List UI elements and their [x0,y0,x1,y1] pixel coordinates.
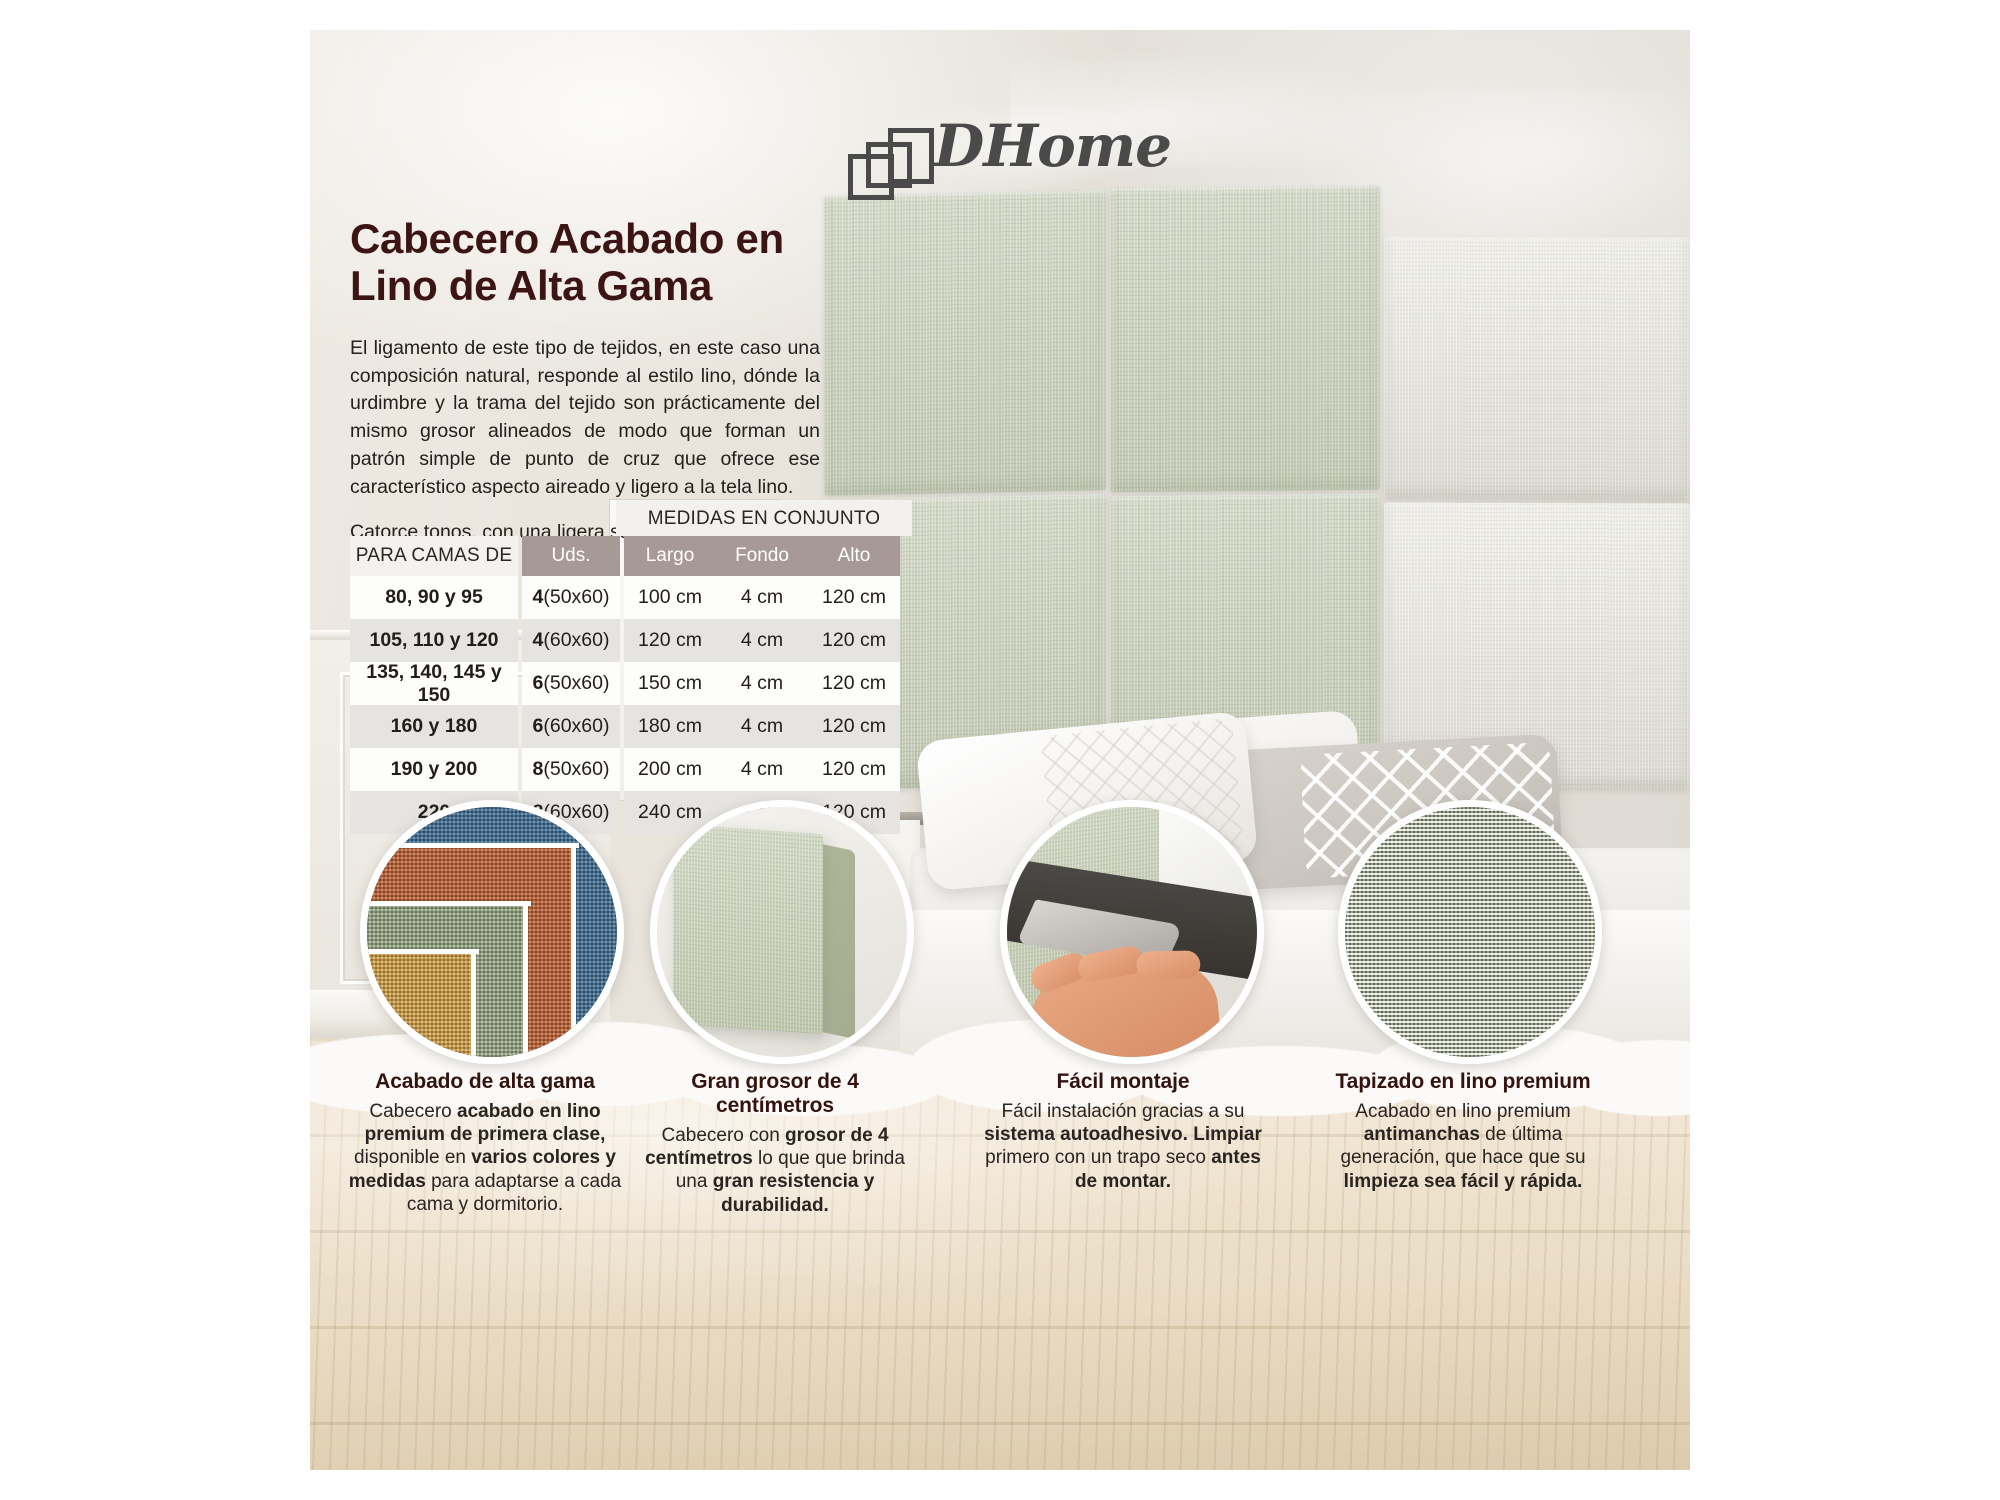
feature-text: Cabecero acabado en lino premium de prim… [340,1100,630,1216]
uds-count: 4 [533,586,544,609]
table-row: 105, 110 y 1204 (60x60)120 cm4 cm120 cm [350,619,912,662]
feature-text: Fácil instalación gracias a su sistema a… [978,1100,1268,1193]
cell-alto: 120 cm [808,576,900,619]
linen-weave-macro-photo [1338,800,1602,1064]
feature-block: Fácil montaje Fácil instalación gracias … [978,1070,1268,1193]
cell-camas: 190 y 200 [350,748,518,791]
table-supercolumn-label: MEDIDAS EN CONJUNTO [616,500,912,536]
product-infographic: DHome Cabecero Acabado en Lino de Alta G… [310,30,1690,1470]
feature-block: Tapizado en lino premium Acabado en lino… [1318,1070,1608,1193]
cell-fondo: 4 cm [716,705,808,748]
size-table: MEDIDAS EN CONJUNTO PARA CAMAS DE Uds. L… [350,500,912,834]
swatch-gold [367,953,475,1057]
feature-text-plain: Cabecero [369,1101,457,1122]
table-body: 80, 90 y 954 (50x60)100 cm4 cm120 cm105,… [350,576,912,834]
uds-size: (60x60) [543,629,609,652]
feature-text-plain: para adaptarse a cada cama y dormitorio. [407,1171,621,1215]
cell-camas: 105, 110 y 120 [350,619,518,662]
cell-uds: 8 (50x60) [522,748,620,791]
cell-largo: 200 cm [624,748,716,791]
cell-alto: 120 cm [808,619,900,662]
feature-text-bold: Limpiar [1193,1124,1262,1145]
uds-count: 6 [533,715,544,738]
column-header-fondo: Fondo [716,536,808,576]
feature-block: Gran grosor de 4 centímetros Cabecero co… [630,1070,920,1217]
cell-fondo: 4 cm [716,619,808,662]
uds-size: (50x60) [543,586,609,609]
sage-linen-panel [673,824,823,1034]
feature-text-plain: Acabado en lino premium [1355,1101,1570,1122]
feature-text-plain: Fácil instalación gracias a su [1002,1101,1245,1122]
brand-name: DHome [934,112,1171,180]
headboard-panel [1110,186,1380,493]
feature-text-bold: antimanchas [1364,1124,1480,1145]
brand-logo: DHome [848,110,1148,190]
feature-text: Cabecero con grosor de 4 centímetros lo … [630,1124,920,1217]
feature-image-row [310,800,1690,1060]
cell-alto: 120 cm [808,662,900,705]
page-title: Cabecero Acabado en Lino de Alta Gama [350,215,820,309]
sage-linen-headboard-panels [822,175,1690,795]
cell-alto: 120 cm [808,748,900,791]
cell-largo: 180 cm [624,705,716,748]
panel-thickness-photo [650,800,914,1064]
cell-uds: 6 (60x60) [522,705,620,748]
feature-text-plain: Cabecero con [661,1125,785,1146]
title-line-2: Lino de Alta Gama [350,262,712,309]
column-header-alto: Alto [808,536,900,576]
cell-largo: 150 cm [624,662,716,705]
title-line-1: Cabecero Acabado en [350,215,784,262]
uds-size: (50x60) [543,758,609,781]
headboard-panel [1384,236,1690,499]
description-paragraph-1: El ligamento de este tipo de tejidos, en… [350,335,820,501]
feature-heading: Gran grosor de 4 centímetros [630,1070,920,1118]
feature-heading: Fácil montaje [978,1070,1268,1094]
table-header-row: PARA CAMAS DE Uds. Largo Fondo Alto [350,536,912,576]
cell-camas: 160 y 180 [350,705,518,748]
feature-block: Acabado de alta gama Cabecero acabado en… [340,1070,630,1216]
cell-uds: 4 (60x60) [522,619,620,662]
cell-camas: 135, 140, 145 y 150 [350,662,518,705]
hand-installing-panel-photo [1000,800,1264,1064]
page-root: DHome Cabecero Acabado en Lino de Alta G… [0,0,2000,1500]
headboard-panel [824,190,1106,496]
fabric-colour-swatches-photo [360,800,624,1064]
uds-count: 4 [533,629,544,652]
cell-fondo: 4 cm [716,662,808,705]
cell-uds: 6 (50x60) [522,662,620,705]
cell-uds: 4 (50x60) [522,576,620,619]
cell-largo: 100 cm [624,576,716,619]
cell-alto: 120 cm [808,705,900,748]
feature-heading: Tapizado en lino premium [1318,1070,1608,1094]
feature-text-bold: limpieza sea fácil y rápida. [1344,1171,1583,1192]
table-row: 190 y 2008 (50x60)200 cm4 cm120 cm [350,748,912,791]
cell-fondo: 4 cm [716,748,808,791]
column-header-largo: Largo [624,536,716,576]
uds-count: 6 [533,672,544,695]
three-overlapping-squares-icon [848,128,926,190]
feature-heading: Acabado de alta gama [340,1070,630,1094]
table-row: 135, 140, 145 y 1506 (50x60)150 cm4 cm12… [350,662,912,705]
uds-size: (50x60) [543,672,609,695]
feature-text-plain: disponible en [354,1147,471,1168]
cell-camas: 80, 90 y 95 [350,576,518,619]
linen-weave-texture [1345,807,1595,1057]
table-row: 160 y 1806 (60x60)180 cm4 cm120 cm [350,705,912,748]
table-supercolumn-row: MEDIDAS EN CONJUNTO [350,500,912,536]
feature-text: Acabado en lino premium antimanchas de ú… [1318,1100,1608,1193]
feature-text-bold: sistema autoadhesivo. [984,1124,1188,1145]
feature-text-plain: primero con un trapo seco [985,1147,1211,1168]
cell-largo: 120 cm [624,619,716,662]
cell-fondo: 4 cm [716,576,808,619]
hand [1025,959,1224,1064]
uds-count: 8 [533,758,544,781]
column-header-camas: PARA CAMAS DE [350,536,518,576]
column-header-uds: Uds. [522,536,620,576]
uds-size: (60x60) [543,715,609,738]
table-row: 80, 90 y 954 (50x60)100 cm4 cm120 cm [350,576,912,619]
feature-text-bold: gran resistencia y durabilidad. [713,1171,875,1215]
